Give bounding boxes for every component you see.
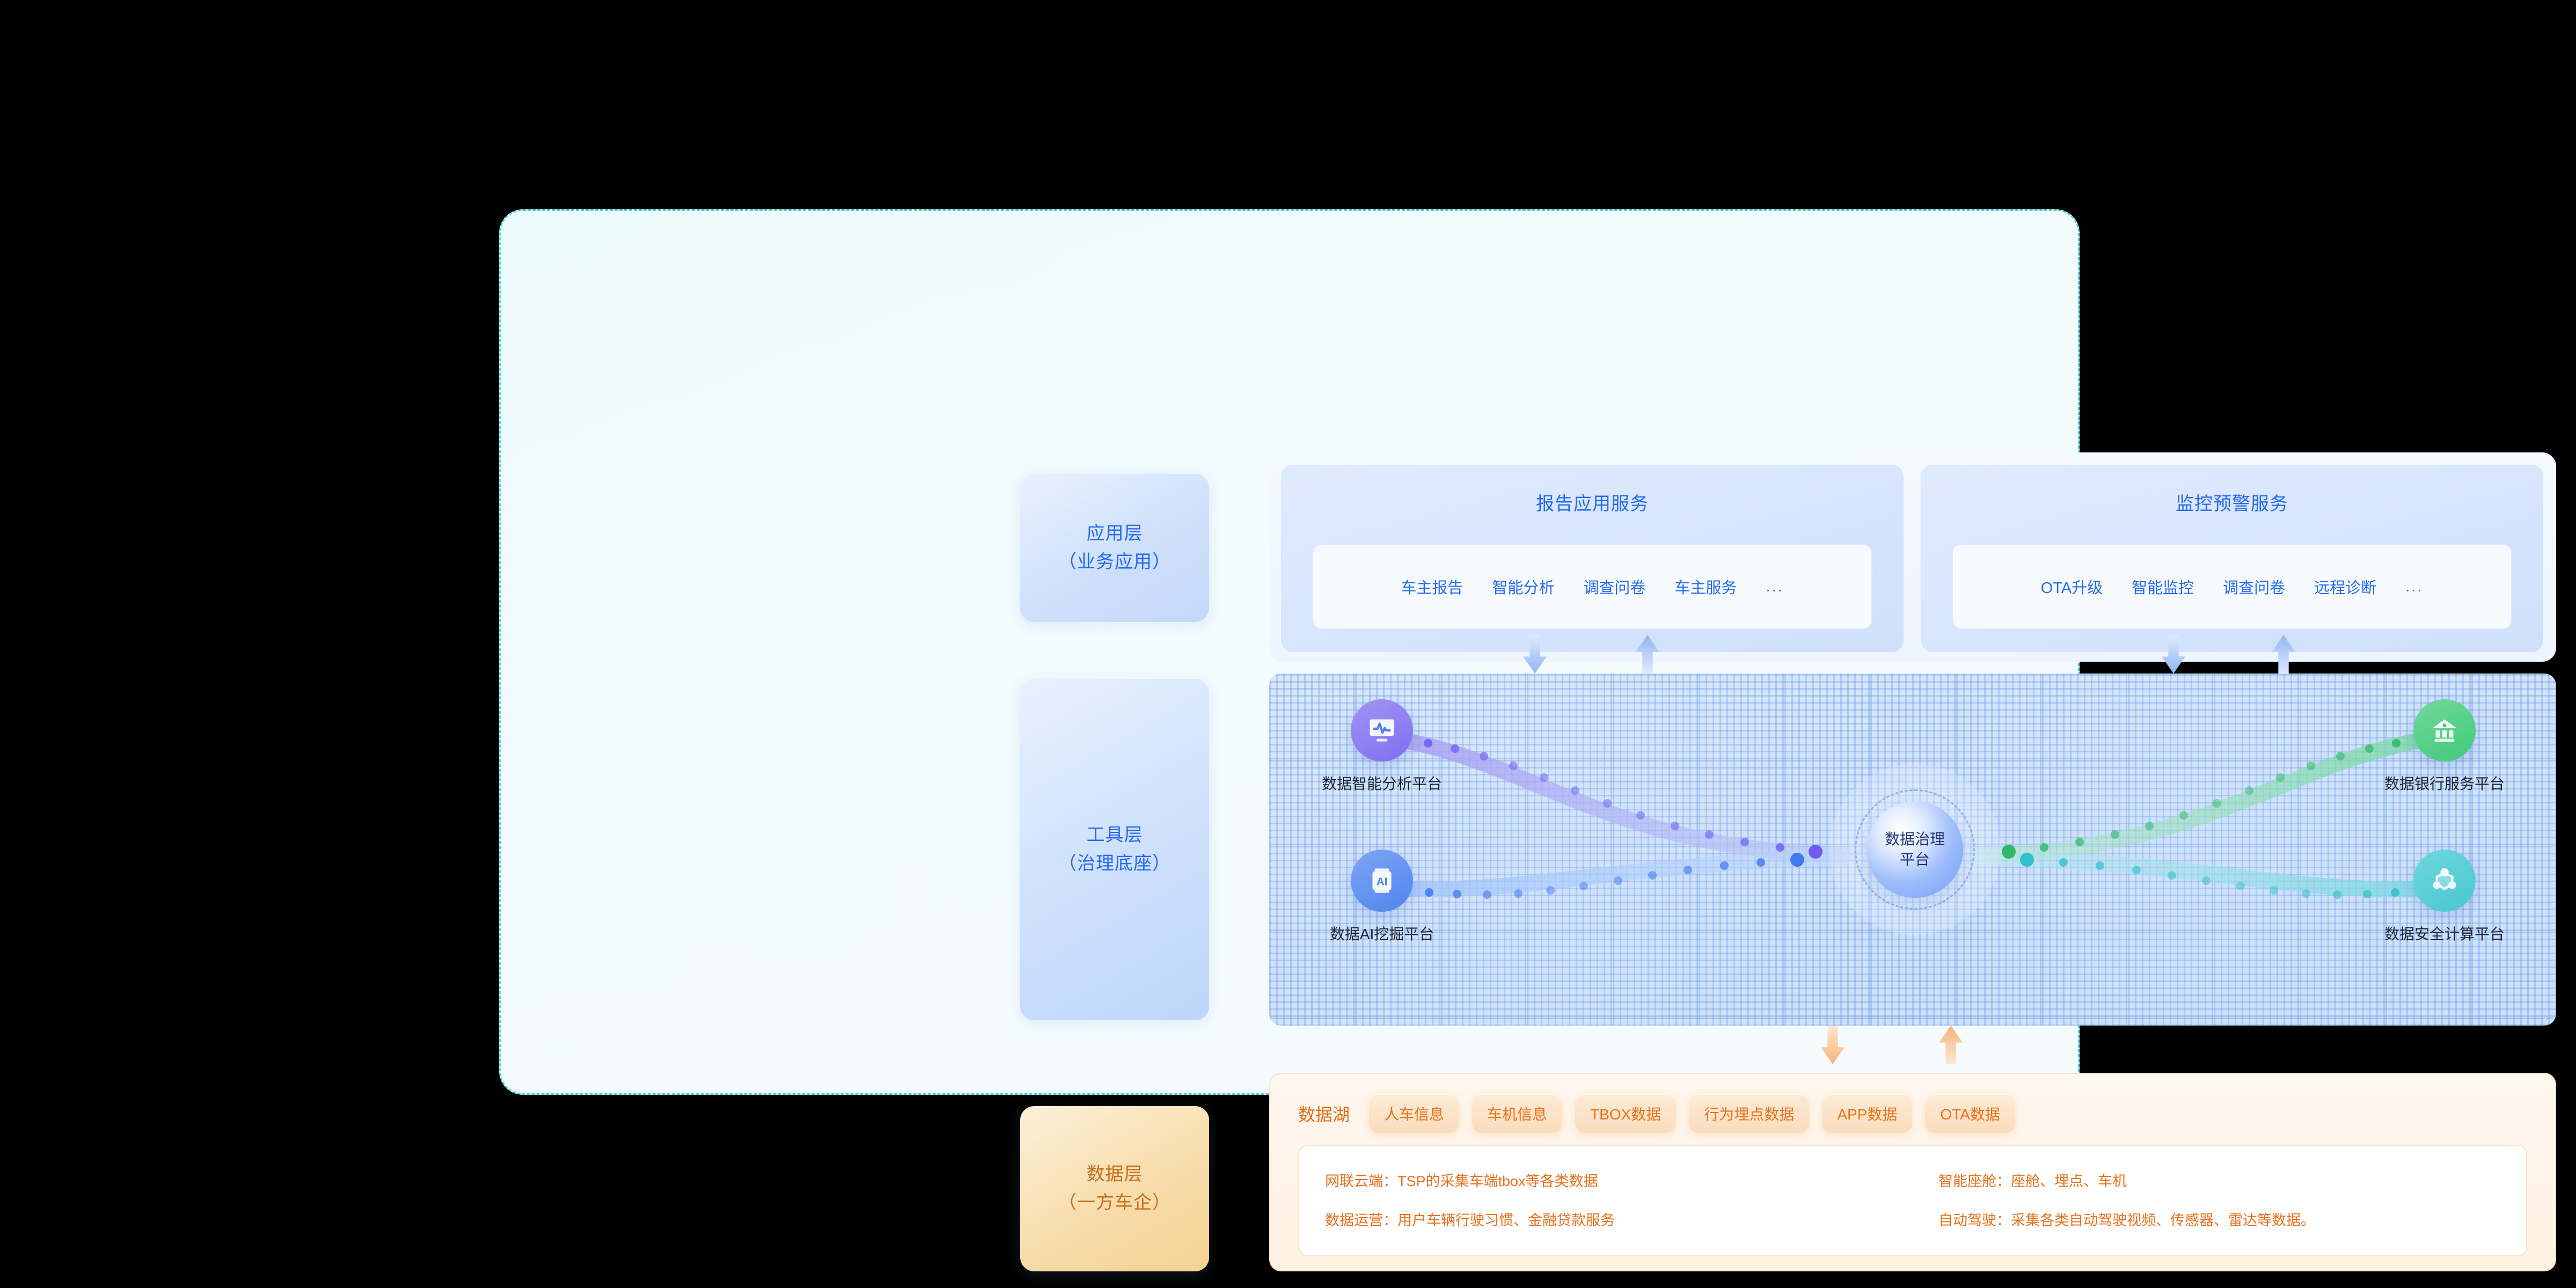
data-lake-title: 数据湖 xyxy=(1298,1101,1350,1126)
service-card-report[interactable]: 报告应用服务 车主报告 智能分析 调查问卷 车主服务 ... xyxy=(1281,464,1904,652)
arrow-down-icon-app-left xyxy=(1523,635,1547,674)
hub-label-line2: 平台 xyxy=(1900,850,1930,870)
data-lake-tag[interactable]: OTA数据 xyxy=(1925,1094,2015,1133)
node-label: 数据银行服务平台 xyxy=(2364,772,2525,794)
arrow-up-icon-app-right xyxy=(2272,635,2295,674)
description-line: 数据运营：用户车辆行驶习惯、金融贷款服务 xyxy=(1325,1209,1913,1230)
arrow-up-icon-app-left xyxy=(1636,635,1659,674)
data-lake-tag[interactable]: 人车信息 xyxy=(1369,1094,1459,1133)
service-item[interactable]: 智能监控 xyxy=(2132,575,2194,598)
monitor-waveform-icon xyxy=(1364,713,1400,748)
node-bubble xyxy=(1351,699,1413,762)
service-item-more[interactable]: ... xyxy=(1766,578,1783,596)
service-item[interactable]: OTA升级 xyxy=(2041,575,2103,598)
data-layer-panel: 数据湖 人车信息 车机信息 TBOX数据 行为埋点数据 APP数据 OTA数据 … xyxy=(1269,1073,2556,1271)
data-governance-hub[interactable]: 数据治理 平台 xyxy=(1829,764,2001,935)
description-line: 智能座舱：座舱、埋点、车机 xyxy=(1938,1169,2526,1190)
description-column-right: 智能座舱：座舱、埋点、车机 自动驾驶：采集各类自动驾驶视频、传感器、雷达等数据。 xyxy=(1913,1146,2526,1255)
hub-core: 数据治理 平台 xyxy=(1867,801,1963,898)
service-item-list: 车主报告 智能分析 调查问卷 车主服务 ... xyxy=(1312,544,1872,630)
layer-sub: （治理底座） xyxy=(1058,850,1171,878)
layer-name: 数据层 xyxy=(1087,1160,1143,1189)
secure-node-shield-icon xyxy=(2427,863,2462,898)
service-item[interactable]: 车主报告 xyxy=(1401,575,1463,598)
service-card-title: 报告应用服务 xyxy=(1281,489,1904,515)
node-bubble: AI xyxy=(1351,850,1413,912)
arrow-up-icon-data xyxy=(1939,1026,1963,1064)
layer-name: 应用层 xyxy=(1087,519,1143,548)
description-column-left: 网联云端：TSP的采集车端tbox等各类数据 数据运营：用户车辆行驶习惯、金融贷… xyxy=(1299,1146,1913,1255)
service-item-list: OTA升级 智能监控 调查问卷 远程诊断 ... xyxy=(1952,544,2512,630)
service-item[interactable]: 调查问卷 xyxy=(1583,575,1645,598)
node-bubble xyxy=(2413,850,2476,912)
service-item[interactable]: 智能分析 xyxy=(1492,575,1554,598)
node-label: 数据安全计算平台 xyxy=(2364,923,2525,944)
layer-chip-data[interactable]: 数据层 （一方车企） xyxy=(1020,1106,1209,1271)
arrow-down-icon-app-right xyxy=(2162,635,2185,674)
service-card-monitor[interactable]: 监控预警服务 OTA升级 智能监控 调查问卷 远程诊断 ... xyxy=(1921,464,2543,652)
hub-label-line1: 数据治理 xyxy=(1885,829,1945,850)
node-data-secure-computing-platform[interactable]: 数据安全计算平台 xyxy=(2364,850,2525,944)
data-lake-tag[interactable]: TBOX数据 xyxy=(1575,1094,1676,1133)
data-lake-tag[interactable]: 行为埋点数据 xyxy=(1689,1094,1809,1133)
service-item-more[interactable]: ... xyxy=(2405,578,2423,596)
service-item[interactable]: 车主服务 xyxy=(1674,575,1737,598)
arrow-down-icon-data xyxy=(1821,1026,1845,1064)
layer-chip-application[interactable]: 应用层 （业务应用） xyxy=(1020,474,1209,622)
data-lake-row: 数据湖 人车信息 车机信息 TBOX数据 行为埋点数据 APP数据 OTA数据 xyxy=(1298,1089,2527,1138)
node-data-ai-mining-platform[interactable]: AI 数据AI挖掘平台 xyxy=(1301,850,1462,944)
data-lake-tag[interactable]: APP数据 xyxy=(1822,1094,1912,1133)
data-source-description-box: 网联云端：TSP的采集车端tbox等各类数据 数据运营：用户车辆行驶习惯、金融贷… xyxy=(1298,1145,2527,1256)
node-data-analysis-platform[interactable]: 数据智能分析平台 xyxy=(1301,699,1462,794)
service-item[interactable]: 调查问卷 xyxy=(2223,575,2285,598)
node-label: 数据智能分析平台 xyxy=(1301,772,1462,794)
tool-layer-panel: 数据治理 平台 数据智能分析平台 AI xyxy=(1269,674,2556,1026)
data-lake-tag[interactable]: 车机信息 xyxy=(1472,1094,1562,1133)
service-item[interactable]: 远程诊断 xyxy=(2314,575,2376,598)
bank-building-icon xyxy=(2427,713,2462,748)
layer-sub: （业务应用） xyxy=(1058,548,1171,576)
layer-chip-tool[interactable]: 工具层 （治理底座） xyxy=(1020,679,1209,1020)
description-line: 网联云端：TSP的采集车端tbox等各类数据 xyxy=(1325,1169,1913,1190)
description-line: 自动驾驶：采集各类自动驾驶视频、传感器、雷达等数据。 xyxy=(1938,1209,2526,1230)
node-label: 数据AI挖掘平台 xyxy=(1301,923,1462,944)
layer-name: 工具层 xyxy=(1087,821,1143,850)
ai-chip-icon: AI xyxy=(1364,863,1400,898)
service-card-title: 监控预警服务 xyxy=(1921,489,2543,515)
svg-text:AI: AI xyxy=(1377,875,1388,888)
diagram-frame: 应用层 （业务应用） 工具层 （治理底座） 数据层 （一方车企） 报告应用服务 … xyxy=(499,209,2080,1095)
layer-sub: （一方车企） xyxy=(1058,1189,1171,1217)
node-data-bank-platform[interactable]: 数据银行服务平台 xyxy=(2364,699,2525,794)
application-layer-panel: 报告应用服务 车主报告 智能分析 调查问卷 车主服务 ... 监控预警服务 OT… xyxy=(1269,452,2556,662)
node-bubble xyxy=(2413,699,2476,762)
